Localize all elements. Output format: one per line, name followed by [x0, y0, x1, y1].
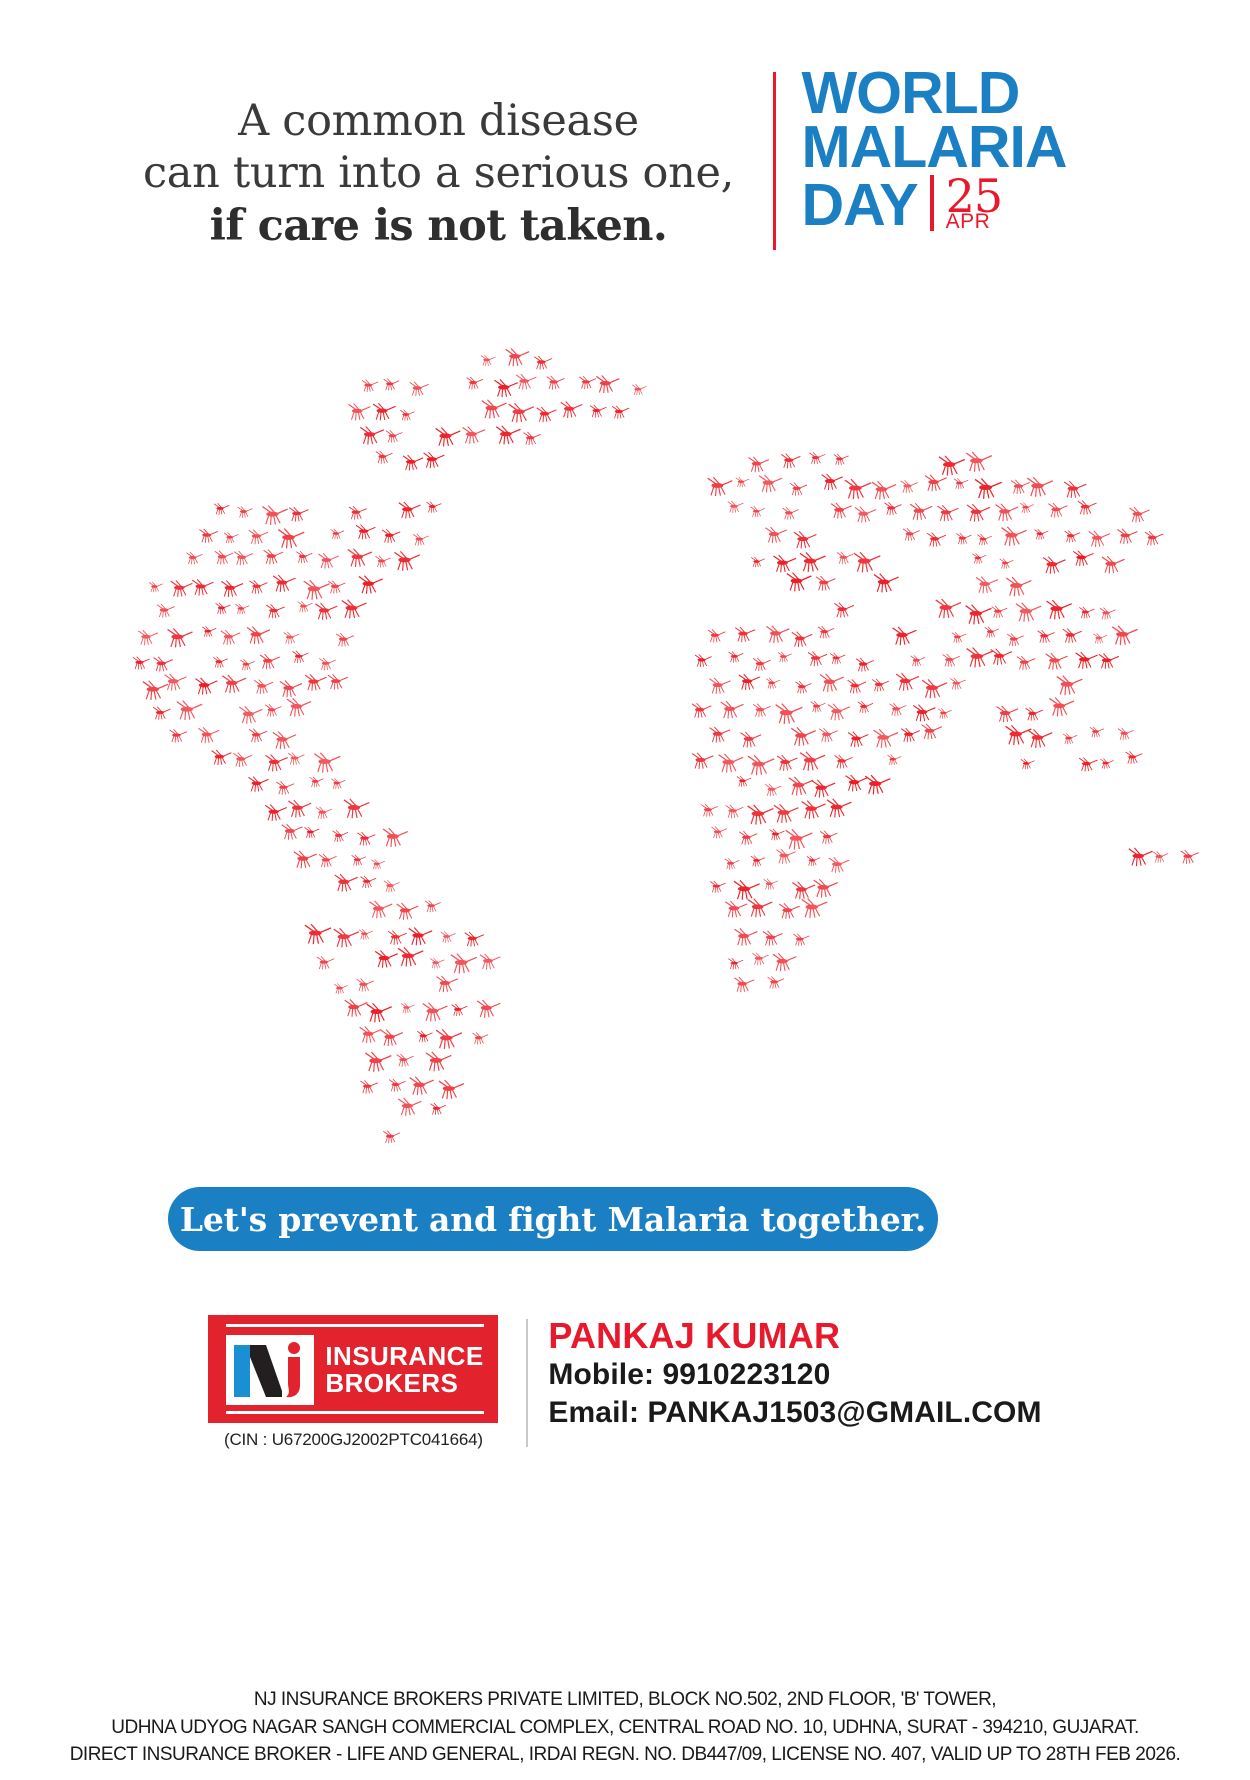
agent-email: Email: PANKAJ1503@GMAIL.COM [548, 1394, 1041, 1432]
campaign-line-day: DAY [802, 178, 918, 232]
slogan-banner: Let's prevent and fight Malaria together… [168, 1187, 938, 1251]
campaign-line-malaria: MALARIA [802, 120, 1132, 174]
logo-column: INSURANCE BROKERS (CIN : U67200GJ2002PTC… [208, 1315, 508, 1450]
legal-line-3: DIRECT INSURANCE BROKER - LIFE AND GENER… [0, 1741, 1250, 1769]
logo-rule-bottom [226, 1411, 484, 1414]
date-divider [930, 175, 934, 231]
slogan-text: Let's prevent and fight Malaria together… [180, 1200, 926, 1239]
legal-disclaimer: NJ INSURANCE BROKERS PRIVATE LIMITED, BL… [0, 1686, 1250, 1769]
legal-line-2: UDHNA UDYOG NAGAR SANGH COMMERCIAL COMPL… [0, 1714, 1250, 1742]
campaign-line-world: WORLD [802, 66, 1132, 120]
agent-name: PANKAJ KUMAR [548, 1317, 1041, 1356]
poster-footer: INSURANCE BROKERS (CIN : U67200GJ2002PTC… [0, 1315, 1250, 1450]
world-malaria-day-logo: WORLD MALARIA DAY 25 APR [802, 0, 1132, 233]
contact-divider [526, 1319, 528, 1447]
world-map-svg [0, 295, 1250, 1165]
contact-column: PANKAJ KUMAR Mobile: 9910223120 Email: P… [548, 1315, 1041, 1431]
cin-number: (CIN : U67200GJ2002PTC041664) [208, 1430, 498, 1450]
logo-inner: INSURANCE BROKERS [226, 1335, 483, 1405]
nj-insurance-brokers-logo: INSURANCE BROKERS [208, 1315, 498, 1423]
header-divider [773, 72, 776, 250]
poster-header: A common disease can turn into a serious… [0, 0, 1250, 280]
agent-mobile: Mobile: 9910223120 [548, 1356, 1041, 1394]
contact-row: INSURANCE BROKERS (CIN : U67200GJ2002PTC… [0, 1315, 1250, 1450]
nj-monogram-icon [226, 1335, 314, 1405]
logo-wordmark: INSURANCE BROKERS [325, 1343, 483, 1397]
headline-line-2: can turn into a serious one, [119, 147, 759, 199]
headline: A common disease can turn into a serious… [119, 0, 759, 252]
headline-line-3: if care is not taken. [119, 200, 759, 252]
logo-word-brokers: BROKERS [325, 1370, 483, 1397]
logo-word-insurance: INSURANCE [325, 1343, 483, 1370]
mosquito-world-map [0, 295, 1250, 1165]
campaign-date: 25 APR [946, 177, 1003, 233]
legal-line-1: NJ INSURANCE BROKERS PRIVATE LIMITED, BL… [0, 1686, 1250, 1714]
campaign-day-row: DAY 25 APR [802, 175, 1132, 233]
headline-line-1: A common disease [119, 95, 759, 147]
logo-rule-top [226, 1324, 484, 1327]
